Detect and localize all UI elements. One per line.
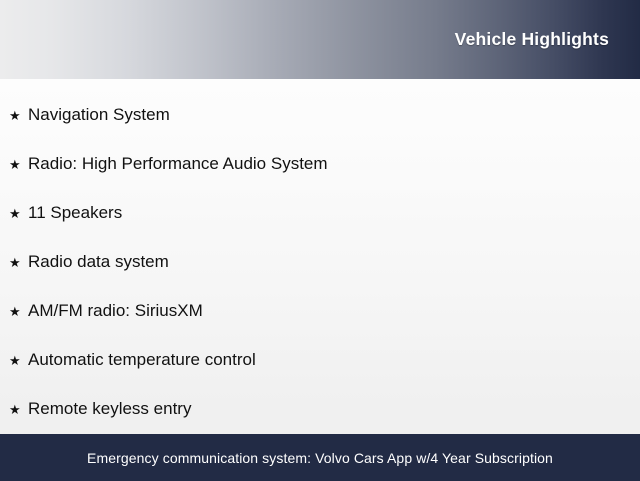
slide-header: Vehicle Highlights xyxy=(0,0,640,79)
star-icon: ★ xyxy=(9,109,28,122)
list-item: ★ Navigation System xyxy=(0,91,640,140)
feature-label: Remote keyless entry xyxy=(28,400,191,419)
star-icon: ★ xyxy=(9,403,28,416)
list-item: ★ Remote keyless entry xyxy=(0,385,640,434)
feature-label: AM/FM radio: SiriusXM xyxy=(28,302,203,321)
page-title: Vehicle Highlights xyxy=(455,31,609,49)
star-icon: ★ xyxy=(9,256,28,269)
list-item: ★ AM/FM radio: SiriusXM xyxy=(0,287,640,336)
list-item: ★ 11 Speakers xyxy=(0,189,640,238)
vehicle-highlights-list: ★ Navigation System ★ Radio: High Perfor… xyxy=(0,79,640,434)
footer-note: Emergency communication system: Volvo Ca… xyxy=(87,451,553,465)
star-icon: ★ xyxy=(9,207,28,220)
feature-label: Automatic temperature control xyxy=(28,351,256,370)
vehicle-highlights-slide: Vehicle Highlights ★ Navigation System ★… xyxy=(0,0,640,480)
feature-label: 11 Speakers xyxy=(28,204,122,223)
feature-label: Navigation System xyxy=(28,106,170,125)
feature-label: Radio data system xyxy=(28,253,169,272)
star-icon: ★ xyxy=(9,305,28,318)
star-icon: ★ xyxy=(9,158,28,171)
list-item: ★ Radio data system xyxy=(0,238,640,287)
feature-label: Radio: High Performance Audio System xyxy=(28,155,328,174)
list-item: ★ Radio: High Performance Audio System xyxy=(0,140,640,189)
star-icon: ★ xyxy=(9,354,28,367)
slide-footer: Emergency communication system: Volvo Ca… xyxy=(0,434,640,481)
list-item: ★ Automatic temperature control xyxy=(0,336,640,385)
